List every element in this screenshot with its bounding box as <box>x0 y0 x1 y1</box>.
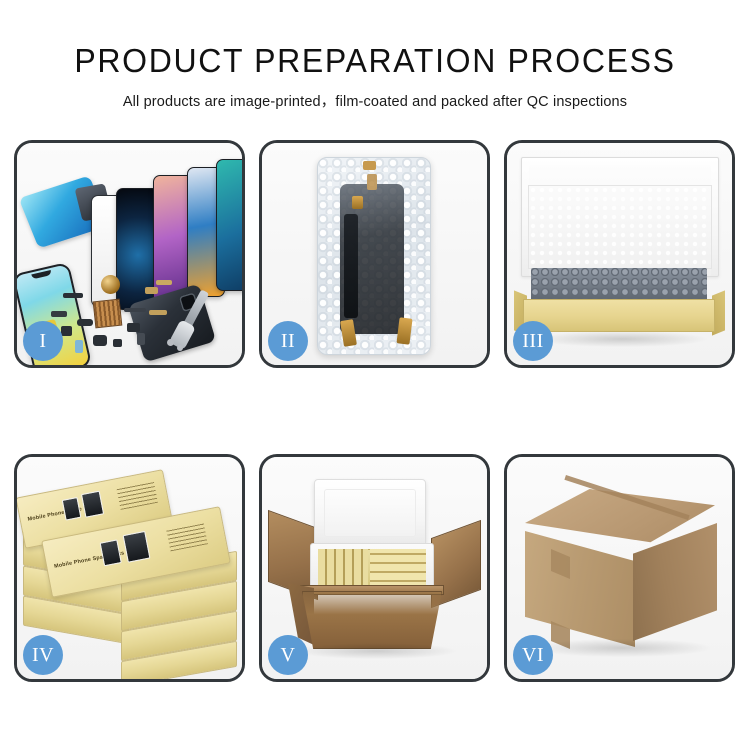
page-title: PRODUCT PREPARATION PROCESS <box>11 44 739 79</box>
label-phone-image <box>81 491 104 518</box>
panel-step-6[interactable]: VI <box>504 454 735 682</box>
panel-step-2[interactable]: II <box>259 140 490 368</box>
part-icon <box>124 308 146 312</box>
step-badge-2: II <box>268 321 308 361</box>
step-badge-3: III <box>513 321 553 361</box>
label-spec-lines <box>116 481 157 510</box>
part-icon <box>77 319 93 326</box>
panel-step-4[interactable]: Mobile Phone Spare Parts Mobile Phone Sp… <box>14 454 245 682</box>
kraft-boxes-left-icon <box>318 549 368 589</box>
bag-seal-icon <box>363 161 376 170</box>
carton-front-icon <box>302 591 442 649</box>
label-spec-lines <box>166 523 207 552</box>
part-icon <box>51 311 67 317</box>
process-grid: I II <box>14 140 736 682</box>
screw-icon <box>177 345 183 351</box>
part-icon <box>63 293 83 298</box>
box-front-icon <box>523 299 715 332</box>
foam-sheet-icon <box>528 185 712 269</box>
label-phone-image <box>62 497 82 521</box>
panel-step-3[interactable]: III <box>504 140 735 368</box>
screw-icon <box>167 339 174 346</box>
bubble-wrap-bag-icon <box>317 157 431 355</box>
header: PRODUCT PREPARATION PROCESS All products… <box>0 0 750 111</box>
page-subtitle: All products are image-printed，film-coat… <box>0 90 750 111</box>
bubble-wrapped-units-icon <box>531 268 707 301</box>
label-phone-image <box>123 531 151 563</box>
screen-teal-icon <box>216 159 245 291</box>
panel-step-5[interactable]: V <box>259 454 490 682</box>
chip-board-icon <box>93 299 123 329</box>
label-phone-image <box>100 539 122 566</box>
gold-tab-icon <box>396 317 412 344</box>
part-icon <box>113 339 122 347</box>
panel-step-1[interactable]: I <box>14 140 245 368</box>
carton-left-face-icon <box>525 531 635 647</box>
step-badge-5: V <box>268 635 308 675</box>
part-icon <box>156 280 172 285</box>
part-icon <box>93 335 107 346</box>
foam-lid-icon <box>314 479 426 547</box>
drop-shadow <box>537 331 707 347</box>
step-badge-1: I <box>23 321 63 361</box>
kraft-boxes-right-icon <box>370 549 426 589</box>
part-icon <box>61 326 72 336</box>
part-icon <box>145 287 158 294</box>
speaker-module-icon <box>101 275 120 294</box>
part-icon <box>127 323 140 332</box>
step-badge-6: VI <box>513 635 553 675</box>
step-badge-4: IV <box>23 635 63 675</box>
flex-cable-icon <box>344 214 358 318</box>
part-icon <box>75 340 83 353</box>
gold-tab-icon <box>352 196 363 209</box>
infographic-root: PRODUCT PREPARATION PROCESS All products… <box>0 0 750 750</box>
part-icon <box>149 310 167 315</box>
part-icon <box>137 333 145 345</box>
